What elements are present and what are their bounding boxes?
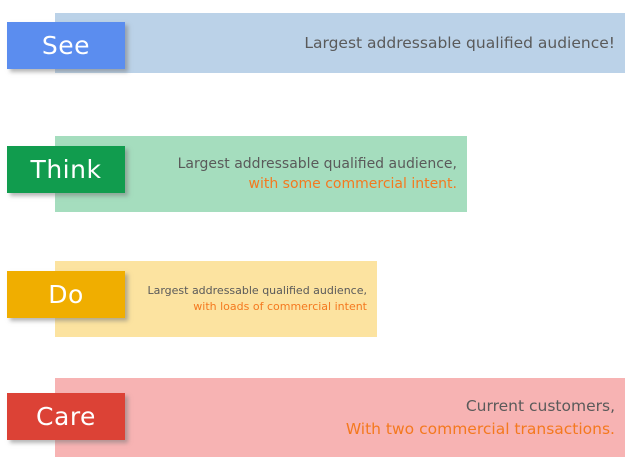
stage-row-do: Largest addressable qualified audience, … [0, 250, 625, 360]
stage-description-think: Largest addressable qualified audience, … [178, 154, 457, 195]
stage-description-care: Current customers, With two commercial t… [346, 395, 615, 440]
stage-row-see: Largest addressable qualified audience! … [0, 0, 625, 110]
stage-tab-see-label: See [42, 31, 90, 60]
stage-tab-do[interactable]: Do [7, 271, 125, 318]
stage-description-think-line2: with some commercial intent. [178, 174, 457, 194]
stage-tab-think-label: Think [31, 155, 102, 184]
stage-description-think-line1: Largest addressable qualified audience, [178, 154, 457, 174]
stage-band-see: Largest addressable qualified audience! [55, 13, 625, 73]
stage-tab-do-label: Do [48, 280, 84, 309]
stage-tab-care[interactable]: Care [7, 393, 125, 440]
stage-tab-see[interactable]: See [7, 22, 125, 69]
stage-band-care: Current customers, With two commercial t… [55, 378, 625, 457]
stage-description-do-line1: Largest addressable qualified audience, [147, 283, 367, 299]
stage-description-see-line1: Largest addressable qualified audience! [304, 32, 615, 54]
stage-row-care: Current customers, With two commercial t… [0, 375, 625, 460]
stage-description-see: Largest addressable qualified audience! [304, 32, 615, 54]
stage-tab-think[interactable]: Think [7, 146, 125, 193]
stage-row-think: Largest addressable qualified audience, … [0, 125, 625, 235]
stage-description-do: Largest addressable qualified audience, … [147, 283, 367, 315]
stage-tab-care-label: Care [36, 402, 96, 431]
stage-description-care-line1: Current customers, [346, 395, 615, 417]
stage-description-do-line2: with loads of commercial intent [147, 299, 367, 315]
stage-description-care-line2: With two commercial transactions. [346, 418, 615, 440]
diagram-canvas: Largest addressable qualified audience! … [0, 0, 625, 460]
